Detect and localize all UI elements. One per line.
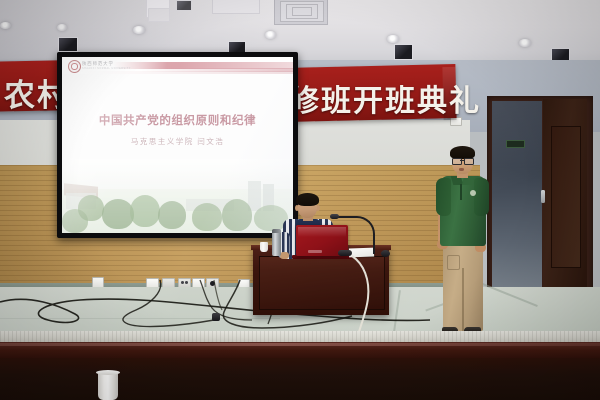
paper-cup-rim [96,370,120,375]
lecture-hall-scene: 农村成 修班开班典礼 陕西师范大学 SHAANXI NORMAL UNIVERS… [0,0,600,400]
ceiling-square-light [394,44,413,60]
projection-screen: 陕西师范大学 SHAANXI NORMAL UNIVERSITY 中国共产 [62,57,293,233]
eyeglasses-icon [452,158,473,163]
ceiling-square-light [176,0,192,11]
ceiling-downlight [0,22,11,29]
standing-man-pocket [447,255,460,270]
slide-title: 中国共产党的组织原则和纪律 [62,112,293,128]
desk-cup[interactable] [260,242,268,252]
door-panel-inset [551,126,581,268]
university-seal-icon [68,60,81,73]
foreground-dark-area [0,358,600,400]
ceiling-square-light [58,37,78,52]
paper-cup[interactable] [98,372,118,400]
university-name-english: SHAANXI NORMAL UNIVERSITY [82,67,131,70]
slide-campus-photo [62,159,293,233]
ceiling-panel [212,0,260,14]
ceiling-downlight [387,35,399,43]
ceiling-downlight [57,24,67,31]
cable-plug [212,313,220,321]
photo-brightness-wash [62,159,293,233]
standing-man-mouth [459,168,464,171]
standing-man-left-sleeve [436,178,451,216]
door-glass-reflection [492,101,542,291]
banner-right-text: 修班开班典礼 [289,76,481,120]
standing-man-shirt-logo [470,190,476,196]
ceiling-downlight [519,39,531,47]
ceiling-downlight [265,31,276,39]
seated-man-hair [296,193,319,206]
standing-man-right-sleeve [474,178,489,216]
door-exit-sign [506,140,525,148]
projection-screen-frame: 陕西师范大学 SHAANXI NORMAL UNIVERSITY 中国共产 [57,52,298,238]
slide-accent-band-3 [85,71,293,74]
door-handle[interactable] [541,190,545,203]
gooseneck-microphone [335,216,375,254]
standing-man-pants-seam [462,268,464,331]
seated-man-left-hand [280,252,289,259]
ceiling-air-vent [274,0,328,25]
thermos-cap [272,229,281,233]
ceiling-downlight [133,26,145,34]
laptop-brand-badge [308,250,322,253]
stage-wood-highlight [0,343,600,346]
standing-man-shirt-placket [460,184,462,200]
microphone-capsule [330,214,339,219]
thermos-flask[interactable] [272,231,281,256]
slide-subtitle: 马克思主义学院 闫文浩 [62,136,293,147]
ceiling-panel-secondary [148,8,170,22]
